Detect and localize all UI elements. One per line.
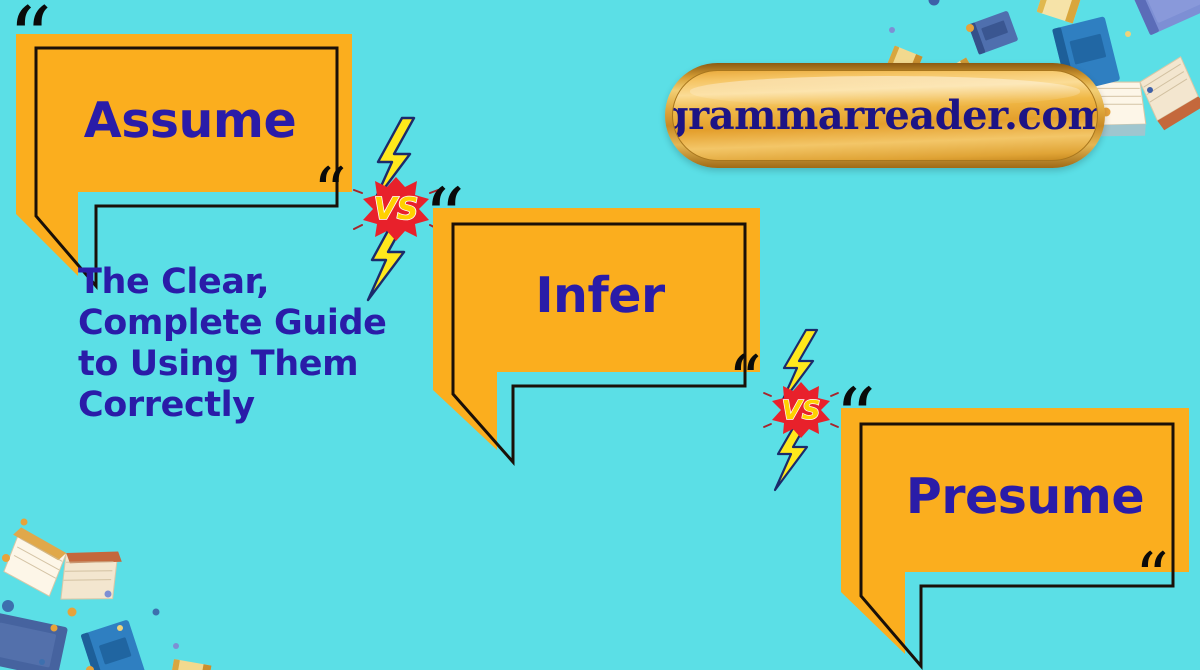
subtitle-line-3: to Using Them xyxy=(78,344,408,385)
site-logo-badge[interactable]: grammarreader.com xyxy=(665,63,1105,168)
subtitle-line-1: The Clear, xyxy=(78,262,408,303)
quote-close-presume: “ xyxy=(1135,545,1169,611)
vs-label: VS xyxy=(374,192,419,227)
subtitle-line-4: Correctly xyxy=(78,385,408,426)
subtitle-text: The Clear, Complete Guide to Using Them … xyxy=(78,262,408,426)
bubble-word-assume: Assume xyxy=(40,86,340,154)
speech-bubble-infer[interactable]: Infer xyxy=(425,200,770,462)
quote-close-infer: “ xyxy=(728,348,762,414)
bubble-fill-assume xyxy=(16,34,352,276)
bubble-word-presume: Presume xyxy=(875,462,1175,530)
poster-canvas: Assume “ “ VS The xyxy=(0,0,1200,670)
speech-bubble-presume[interactable]: Presume xyxy=(833,400,1200,670)
subtitle-line-2: Complete Guide xyxy=(78,303,408,344)
site-logo-text: grammarreader.com xyxy=(672,92,1098,139)
speech-bubble-assume[interactable]: Assume xyxy=(0,18,360,288)
quote-open-infer: “ xyxy=(424,178,465,258)
quote-open-assume: “ xyxy=(8,0,52,82)
vs-burst-shape-2: VS xyxy=(764,382,838,438)
bubble-fill-infer xyxy=(433,208,760,450)
quote-open-presume: “ xyxy=(835,378,876,458)
vs-label-2: VS xyxy=(782,396,821,426)
quote-close-assume: “ xyxy=(313,160,347,226)
bubble-fill-presume xyxy=(841,408,1189,654)
site-logo-inner: grammarreader.com xyxy=(672,70,1098,161)
vs-badge-infer-presume: VS xyxy=(766,330,836,490)
bubble-word-infer: Infer xyxy=(455,262,745,328)
